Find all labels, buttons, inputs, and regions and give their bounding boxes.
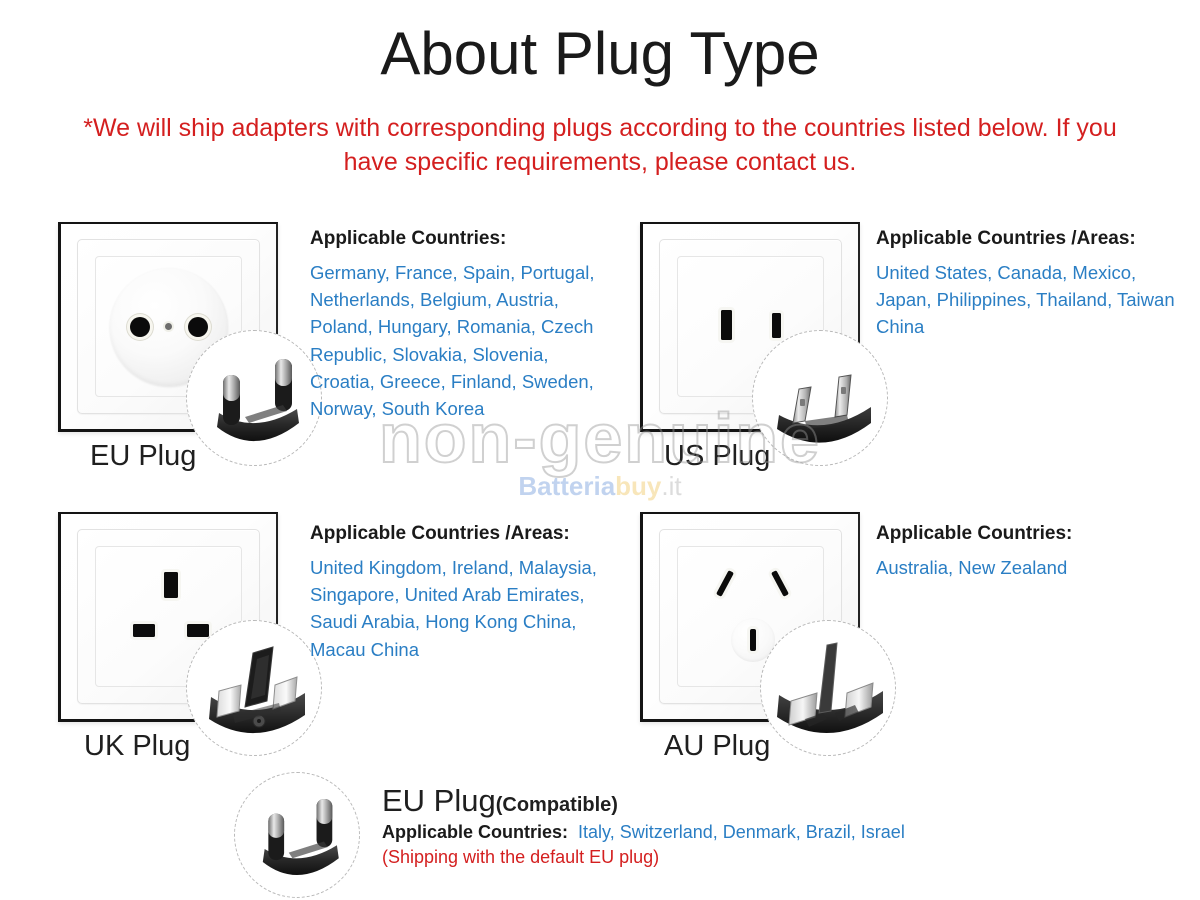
countries-block-us: Applicable Countries /Areas: United Stat… (876, 228, 1176, 341)
countries-block-uk: Applicable Countries /Areas: United King… (310, 523, 610, 663)
countries-heading-au: Applicable Countries: (876, 523, 1072, 545)
plug-label-eu: EU Plug (90, 440, 196, 473)
plug-type-infographic: About Plug Type *We will ship adapters w… (0, 0, 1200, 900)
countries-list-us: United States, Canada, Mexico, Japan, Ph… (876, 259, 1176, 341)
us-blade-slot-right (772, 313, 781, 338)
countries-list-au: Australia, New Zealand (876, 554, 1072, 581)
au-plug-illustration (761, 621, 896, 756)
plug-inset-eu-compatible (234, 772, 360, 898)
plug-inset-uk (186, 620, 322, 756)
countries-heading-us: Applicable Countries /Areas: (876, 228, 1176, 250)
compatible-plug-title: EU Plug(Compatible) (382, 783, 618, 819)
watermark-brand-part1: Batteria (518, 471, 615, 501)
uk-earth-slot (164, 572, 178, 598)
plug-inset-eu (186, 330, 322, 466)
plug-label-au: AU Plug (664, 730, 770, 763)
compatible-plug-title-suffix: (Compatible) (496, 794, 618, 816)
eu-pin-hole-left (130, 317, 150, 337)
eu-center-earth-pin (165, 323, 172, 330)
plug-label-uk: UK Plug (84, 730, 190, 763)
watermark-brand-part2: buy (615, 471, 661, 501)
us-plug-illustration (753, 331, 888, 466)
countries-heading-uk: Applicable Countries /Areas: (310, 523, 610, 545)
compatible-shipping-note: (Shipping with the default EU plug) (382, 847, 659, 868)
countries-block-au: Applicable Countries: Australia, New Zea… (876, 523, 1072, 581)
watermark-brand: Batteriabuy.it (0, 471, 1200, 502)
us-blade-slot-left (721, 310, 732, 340)
eu-plug-illustration (187, 331, 322, 466)
eu-compatible-plug-illustration (235, 773, 360, 898)
plug-label-us: US Plug (664, 440, 770, 473)
compatible-plug-title-main: EU Plug (382, 783, 496, 818)
au-earth-slot (750, 629, 756, 651)
au-blade-slot-right (771, 570, 789, 597)
uk-live-slot-left (133, 624, 155, 637)
plug-inset-au (760, 620, 896, 756)
shipping-notice: *We will ship adapters with correspondin… (60, 112, 1140, 180)
compatible-countries-line: Applicable Countries: Italy, Switzerland… (382, 822, 905, 843)
au-blade-slot-left (716, 570, 734, 597)
countries-list-eu: Germany, France, Spain, Portugal, Nether… (310, 259, 610, 422)
countries-block-eu: Applicable Countries: Germany, France, S… (310, 228, 610, 422)
plug-inset-us (752, 330, 888, 466)
compatible-countries-label: Applicable Countries: (382, 822, 568, 842)
countries-heading-eu: Applicable Countries: (310, 228, 610, 250)
watermark-brand-part3: .it (661, 471, 681, 501)
page-title: About Plug Type (0, 22, 1200, 85)
countries-list-uk: United Kingdom, Ireland, Malaysia, Singa… (310, 554, 610, 663)
compatible-countries-list: Italy, Switzerland, Denmark, Brazil, Isr… (578, 822, 905, 842)
uk-live-slot-right (187, 624, 209, 637)
eu-pin-hole-right (188, 317, 208, 337)
uk-plug-illustration (187, 621, 322, 756)
